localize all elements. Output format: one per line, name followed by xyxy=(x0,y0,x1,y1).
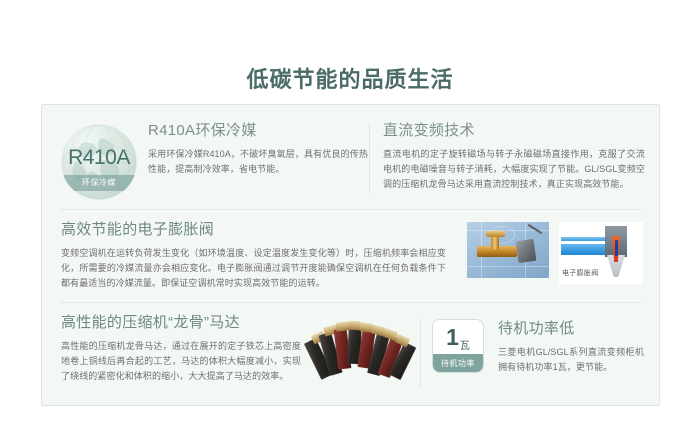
standby-power-heading: 待机功率低 xyxy=(498,317,644,338)
content-panel: R410A 环保冷媒 R410A环保冷媒 采用环保冷媒R410A，不破坏臭氧层，… xyxy=(41,104,660,406)
compressor-motor-text-column: 高性能的压缩机“龙骨”马达 高性能的压缩机龙骨马达，通过在展开的定子铁芯上高密度… xyxy=(61,311,301,384)
dc-inverter-text-column: 直流变频技术 直流电机的定子旋转磁场与转子永磁磁场直接作用，克服了交流电机的电磁… xyxy=(383,119,645,192)
r410a-badge: R410A 环保冷媒 xyxy=(61,124,137,200)
refrigerant-body: 采用环保冷媒R410A，不破坏臭氧层，具有优良的传热性能，提高制冷效率，省电节能… xyxy=(148,147,368,177)
valve-coil-shape xyxy=(516,239,537,263)
r410a-code: R410A xyxy=(61,146,137,170)
dc-inverter-body: 直流电机的定子旋转磁场与转子永磁磁场直接作用，克服了交流电机的电磁噪音与转子消耗… xyxy=(383,147,645,192)
valve-cap-shape xyxy=(486,231,505,237)
valve-stem-shape xyxy=(491,235,499,249)
dc-inverter-heading: 直流变频技术 xyxy=(383,119,645,140)
section-expansion-valve: 高效节能的电子膨胀阀 变频空调机在运转负荷发生变化（如环境温度、设定温度发生变化… xyxy=(42,210,659,302)
expansion-valve-diagram: 电子膨胀阀 xyxy=(559,222,643,284)
valve-wire-shape xyxy=(528,224,543,234)
diagram-blue-pipe xyxy=(561,244,607,255)
section-refrigerant: R410A 环保冷媒 R410A环保冷媒 采用环保冷媒R410A，不破坏臭氧层，… xyxy=(42,105,659,209)
refrigerant-heading: R410A环保冷媒 xyxy=(148,119,368,140)
expansion-valve-heading: 高效节能的电子膨胀阀 xyxy=(61,218,446,239)
standby-power-body: 三菱电机GL/SGL系列直流变频柜机拥有待机功率1瓦，更节能。 xyxy=(498,345,644,375)
standby-power-text: 待机功率低 三菱电机GL/SGL系列直流变频柜机拥有待机功率1瓦，更节能。 xyxy=(498,317,644,375)
refrigerant-text-column: R410A环保冷媒 采用环保冷媒R410A，不破坏臭氧层，具有优良的传热性能，提… xyxy=(148,119,368,177)
expansion-valve-body: 变频空调机在运转负荷发生变化（如环境温度、设定温度发生变化等）时，压缩机频率会相… xyxy=(61,246,446,291)
diagram-flow-arrow xyxy=(615,240,618,256)
standby-power-badge: 1 瓦 待机功率 xyxy=(432,319,484,373)
standby-power-caption: 待机功率 xyxy=(433,354,483,373)
diagram-label: 电子膨胀阀 xyxy=(562,268,599,278)
expansion-valve-photo xyxy=(467,222,549,278)
section3-vertical-divider xyxy=(420,319,421,387)
expansion-valve-text-column: 高效节能的电子膨胀阀 变频空调机在运转负荷发生变化（如环境温度、设定温度发生变化… xyxy=(61,218,446,291)
page-title: 低碳节能的品质生活 xyxy=(0,62,700,94)
stator-core-image xyxy=(310,317,412,389)
page-root: 低碳节能的品质生活 xyxy=(0,0,700,421)
standby-power-number: 1 xyxy=(446,326,459,349)
expansion-valve-media: 电子膨胀阀 xyxy=(467,222,643,284)
section-compressor-motor: 高性能的压缩机“龙骨”马达 高性能的压缩机龙骨马达，通过在展开的定子铁芯上高密度… xyxy=(42,303,659,407)
compressor-motor-body: 高性能的压缩机龙骨马达，通过在展开的定子铁芯上高密度地卷上铜线后再合起的工艺，马… xyxy=(61,339,301,384)
compressor-motor-heading: 高性能的压缩机“龙骨”马达 xyxy=(61,311,301,332)
section1-vertical-divider xyxy=(369,123,370,193)
standby-power-unit: 瓦 xyxy=(460,337,470,354)
r410a-caption: 环保冷媒 xyxy=(61,175,137,191)
